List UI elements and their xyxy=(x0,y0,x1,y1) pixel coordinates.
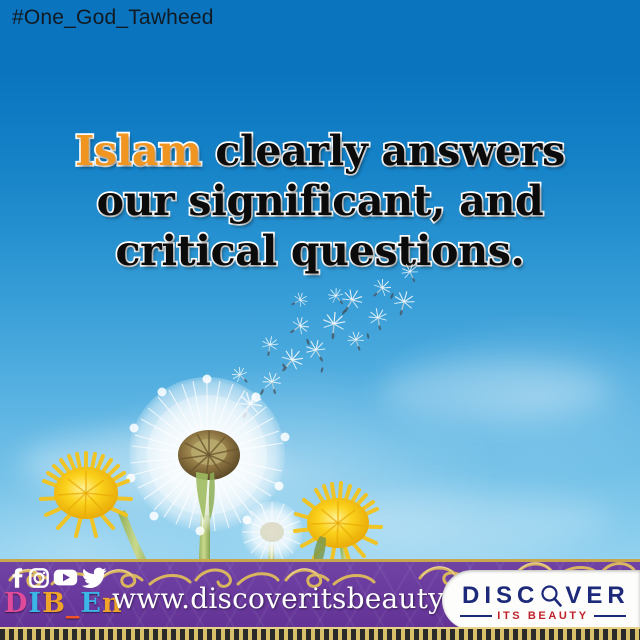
brand-handle-letter: I xyxy=(28,588,42,619)
discover-logo[interactable]: DISC VER ITS BEAUTY xyxy=(442,570,640,630)
brand-handle[interactable]: DIB_En xyxy=(4,590,123,617)
discover-word-before-o: DISC xyxy=(462,582,539,610)
tagline-rule-left xyxy=(460,615,492,617)
discover-logo-tagline: ITS BEAUTY xyxy=(460,610,626,622)
brand-handle-letter: D xyxy=(4,588,28,619)
discover-word-after-o: VER xyxy=(565,582,629,610)
facebook-icon[interactable] xyxy=(8,568,25,588)
discover-logo-wordmark: DISC VER xyxy=(462,582,630,610)
magnifying-glass-icon xyxy=(538,583,564,609)
tagline-rule-right xyxy=(594,615,626,617)
twitter-icon[interactable] xyxy=(82,567,107,588)
brand-handle-letter: B xyxy=(42,588,66,619)
poster-canvas: #One_God_Tawheed Islam clearly answers o… xyxy=(0,0,640,640)
tagline-text: ITS BEAUTY xyxy=(497,610,588,622)
banner-bottom-strip xyxy=(0,627,640,640)
instagram-icon[interactable] xyxy=(29,568,49,588)
footer-banner: DIB_En www.discoveritsbeauty.com DISC VE… xyxy=(0,559,640,640)
youtube-icon[interactable] xyxy=(53,568,78,587)
website-url[interactable]: www.discoveritsbeauty.com xyxy=(112,582,462,615)
dandelion-scene xyxy=(0,0,640,640)
brand-handle-letter: _ xyxy=(66,588,81,619)
brand-handle-letter: E xyxy=(80,588,102,619)
social-icons-row[interactable] xyxy=(8,567,107,588)
